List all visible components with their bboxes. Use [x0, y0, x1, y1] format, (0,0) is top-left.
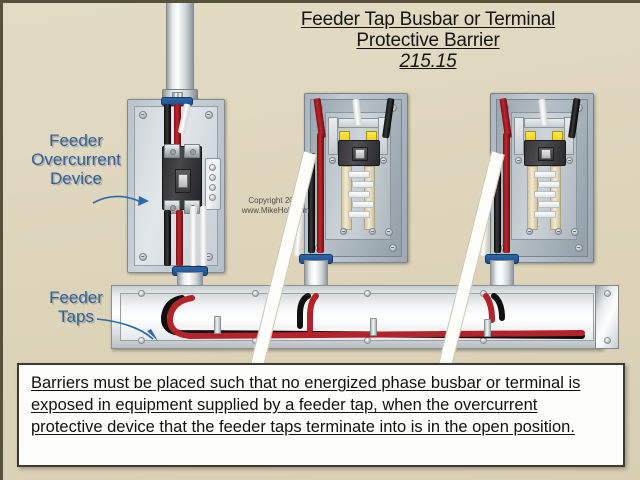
conductor-white: [190, 206, 197, 266]
breaker-line-lug: [164, 144, 180, 158]
busbar-stab: [352, 181, 374, 188]
slide-canvas: Feeder Tap Busbar or Terminal Protective…: [0, 0, 640, 480]
conductor-red: [317, 133, 324, 253]
page-title: Feeder Tap Busbar or Terminal Protective…: [238, 9, 618, 72]
label-line-1: Feeder: [21, 288, 131, 307]
wireway-conductor-paths: [112, 286, 602, 348]
busbar-stab: [348, 171, 370, 178]
busbar-stab: [534, 191, 556, 198]
panel-latch: [385, 228, 393, 236]
title-line-2: Protective Barrier: [238, 30, 618, 51]
enclosure-screw: [205, 111, 213, 119]
panel-latch: [571, 228, 579, 236]
ground-bar-left: [514, 117, 524, 155]
panel-screw: [526, 228, 533, 235]
busbar-stab: [348, 191, 370, 198]
copyright-line-1: Copyright 2023: [228, 196, 323, 206]
ground-bar-left: [328, 117, 338, 155]
panel-screw: [369, 228, 376, 235]
conductor-red: [176, 210, 183, 266]
wireway-end-cap: [595, 285, 619, 349]
busbar-stab: [538, 201, 560, 208]
panel-interior: [511, 112, 577, 240]
end-cap-screw: [604, 290, 611, 297]
busbar-stab: [538, 181, 560, 188]
cable-tie: [370, 318, 377, 336]
wireway-gutter: [111, 285, 603, 349]
conductor-white: [200, 206, 207, 266]
panel-screw: [340, 228, 347, 235]
end-cap-screw: [604, 337, 611, 344]
panel-screw: [555, 228, 562, 235]
busbar-stab: [348, 211, 370, 218]
panel-screw: [575, 244, 583, 252]
panel-screw: [389, 244, 397, 252]
panel-interior: [325, 112, 391, 240]
neutral-terminal-bar: [205, 158, 221, 210]
main-circuit-breaker[interactable]: [338, 140, 380, 166]
enclosure-screw: [139, 111, 147, 119]
conductor-black: [164, 104, 171, 149]
caption-text: Barriers must be placed such that no ene…: [31, 372, 613, 438]
enclosure-screw: [139, 253, 147, 261]
arrow-to-feeder-overcurrent-device: [91, 179, 151, 209]
cable-tie: [214, 316, 221, 334]
busbar-stab: [352, 201, 374, 208]
breaker-toggle[interactable]: [178, 174, 188, 188]
busbar-stab: [534, 171, 556, 178]
label-line-1: Feeder: [11, 131, 141, 150]
arrow-to-feeder-taps: [95, 309, 175, 343]
conductor-black: [164, 210, 171, 266]
conductor-red: [503, 133, 510, 253]
copyright-notice: Copyright 2023 www.MikeHolt.com: [228, 196, 323, 216]
cable-tie: [484, 319, 491, 337]
busbar-stab: [534, 211, 556, 218]
label-line-2: Overcurrent: [11, 150, 141, 169]
panel-screw: [380, 157, 387, 164]
caption-box: Barriers must be placed such that no ene…: [17, 363, 625, 467]
breaker-line-lug: [184, 144, 200, 158]
breaker-toggle[interactable]: [541, 149, 551, 159]
copyright-line-2: www.MikeHolt.com: [228, 206, 323, 216]
title-line-1: Feeder Tap Busbar or Terminal: [238, 9, 618, 30]
title-code-reference: 215.15: [238, 51, 618, 72]
breaker-toggle[interactable]: [355, 149, 365, 159]
panel-screw: [515, 157, 522, 164]
panel-screw: [566, 157, 573, 164]
panel-screw: [329, 157, 336, 164]
main-circuit-breaker[interactable]: [524, 140, 566, 166]
